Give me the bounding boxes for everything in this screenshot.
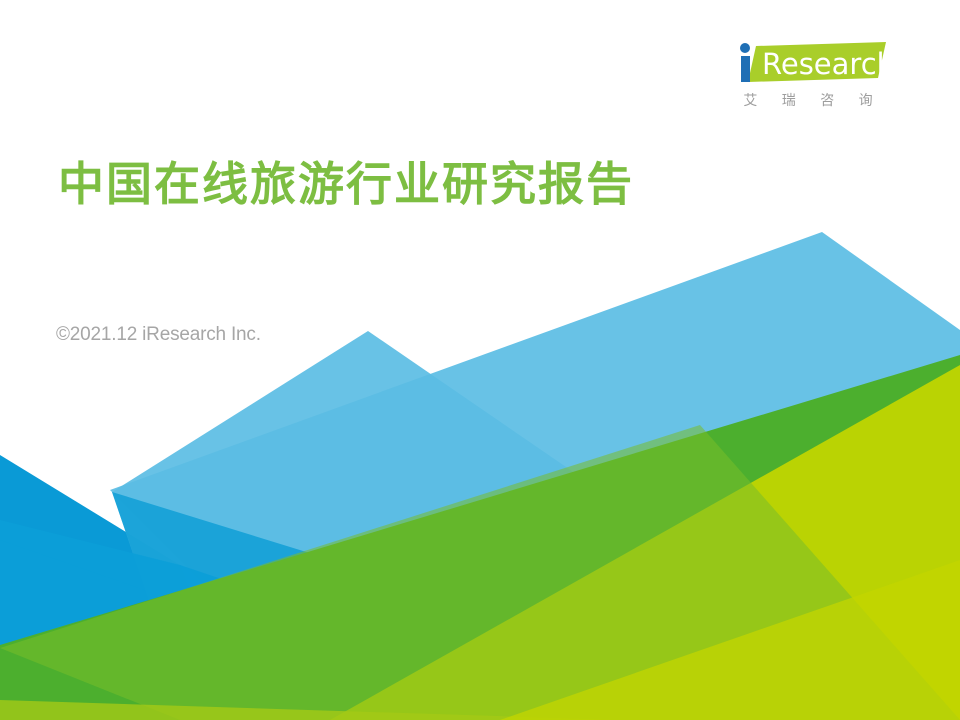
copyright-text: ©2021.12 iResearch Inc. (56, 324, 261, 346)
report-cover-slide: Research 艾 瑞 咨 询 中国在线旅游行业研究报告 ©2021.12 i… (0, 0, 960, 720)
page-title: 中国在线旅游行业研究报告 (58, 148, 634, 214)
iresearch-logo-mark: Research (728, 38, 888, 86)
logo-subtitle: 艾 瑞 咨 询 (728, 90, 888, 110)
iresearch-logo: Research 艾 瑞 咨 询 (728, 38, 888, 118)
logo-wordmark: Research (762, 47, 888, 81)
logo-i-stem-icon (741, 56, 750, 82)
logo-i-dot-icon (740, 43, 750, 53)
